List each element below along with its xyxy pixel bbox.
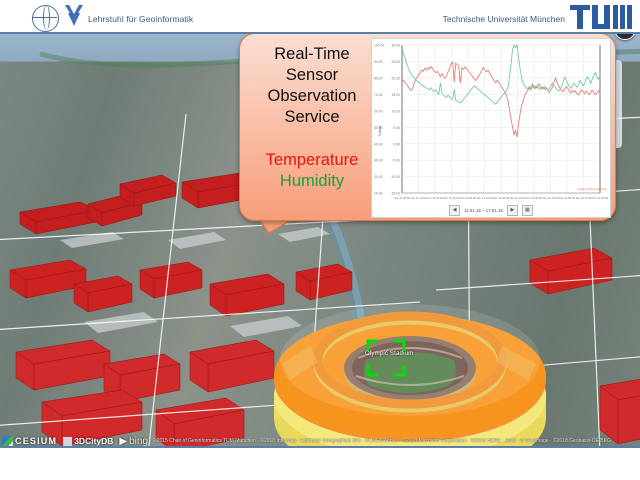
svg-text:Jan 16 00:00: Jan 16 00:00 <box>559 196 576 200</box>
svg-text:100.00: 100.00 <box>374 44 384 48</box>
svg-text:Jan 17 00:00: Jan 17 00:00 <box>592 196 609 200</box>
bing-label[interactable]: bing <box>129 436 148 447</box>
page-header: Lehrstuhl für Geoinformatik Technische U… <box>0 0 640 34</box>
svg-text:10.00: 10.00 <box>392 109 401 113</box>
institute-label: Lehrstuhl für Geoinformatik <box>88 14 193 24</box>
svg-text:90.00: 90.00 <box>374 60 383 64</box>
citydb-label[interactable]: 3DCityDB <box>74 436 113 446</box>
citydb-mark-icon <box>63 437 72 446</box>
cesium-label: CESIUM <box>15 436 57 446</box>
bing-mark-icon: ▶ <box>119 436 127 447</box>
chart-range-label: 11.01.16 – 17.01.16 <box>464 208 503 213</box>
svg-text:25.00: 25.00 <box>392 60 401 64</box>
svg-text:-10.00: -10.00 <box>390 175 400 179</box>
cesium-mark-icon <box>2 436 13 447</box>
svg-text:Jan 13 12:00: Jan 13 12:00 <box>476 196 493 200</box>
callout-title-line-2: Sensor <box>252 65 372 86</box>
feature-label: Olympic Stadium <box>365 351 413 357</box>
callout-title-block: Real-Time Sensor Observation Service Tem… <box>252 44 372 192</box>
svg-text:15.00: 15.00 <box>392 93 401 97</box>
svg-text:70.00: 70.00 <box>374 93 383 97</box>
footer-divider <box>0 446 640 448</box>
svg-text:10.00: 10.00 <box>374 192 383 196</box>
svg-text:20.00: 20.00 <box>392 76 401 80</box>
svg-text:-15.00: -15.00 <box>390 192 400 196</box>
page-footer <box>0 446 640 480</box>
chevron-logo-icon <box>64 4 84 28</box>
svg-text:Jan 12 00:00: Jan 12 00:00 <box>427 196 444 200</box>
svg-text:Jan 11 00:00: Jan 11 00:00 <box>394 196 410 200</box>
step-back-icon[interactable]: ◀ <box>449 205 460 216</box>
legend-temperature-label: Temperature <box>252 150 372 171</box>
cesium-3d-viewer-app: Lehrstuhl für Geoinformatik Technische U… <box>0 0 640 480</box>
svg-text:80.00: 80.00 <box>374 76 383 80</box>
chart-disclaimer-note: Data without warranty <box>578 187 607 191</box>
callout-title-line-3: Observation <box>252 86 372 107</box>
sensor-chart-panel[interactable]: 30.00100.0025.0090.0020.0080.0015.0070.0… <box>371 38 611 218</box>
calendar-icon[interactable]: ▦ <box>522 205 533 216</box>
svg-text:0.00: 0.00 <box>393 142 400 146</box>
sensor-info-callout: Real-Time Sensor Observation Service Tem… <box>239 33 616 221</box>
university-label: Technische Universität München <box>443 14 565 24</box>
svg-text:5.00: 5.00 <box>393 126 400 130</box>
svg-text:Jan 11 12:00: Jan 11 12:00 <box>411 196 427 200</box>
attribution-bar: CESIUM 3DCityDB ▶ bing ©2015 Chair of Ge… <box>0 434 640 446</box>
svg-text:Jan 12 12:00: Jan 12 12:00 <box>443 196 460 200</box>
attribution-credits: ©2015 Chair of Geoinformatics TUM Münche… <box>153 438 611 444</box>
svg-text:40.00: 40.00 <box>374 142 383 146</box>
olympic-stadium-model[interactable] <box>270 268 550 446</box>
header-divider <box>0 32 640 34</box>
callout-title-line-4: Service <box>252 107 372 128</box>
svg-text:Jan 15 00:00: Jan 15 00:00 <box>526 196 543 200</box>
chart-playback-toolbar[interactable]: ◀ 11.01.16 – 17.01.16 ▶ ▦ <box>372 204 610 216</box>
svg-text:Jan 14 00:00: Jan 14 00:00 <box>493 196 510 200</box>
sensor-timeseries-chart[interactable]: 30.00100.0025.0090.0020.0080.0015.0070.0… <box>372 39 610 217</box>
globe-icon <box>32 5 59 32</box>
svg-text:Jan 14 12:00: Jan 14 12:00 <box>509 196 526 200</box>
svg-text:60.00: 60.00 <box>374 109 383 113</box>
svg-text:30.00: 30.00 <box>392 44 401 48</box>
svg-text:30.00: 30.00 <box>374 159 383 163</box>
legend-humidity-label: Humidity <box>252 171 372 192</box>
svg-text:Jan 16 12:00: Jan 16 12:00 <box>575 196 592 200</box>
svg-text:-5.00: -5.00 <box>392 159 400 163</box>
selection-bracket-icon <box>366 339 406 377</box>
svg-text:Jan 15 12:00: Jan 15 12:00 <box>542 196 559 200</box>
callout-title-line-1: Real-Time <box>252 44 372 65</box>
svg-text:Jan 13 00:00: Jan 13 00:00 <box>460 196 477 200</box>
svg-text:Celsius: Celsius <box>378 125 382 136</box>
step-forward-icon[interactable]: ▶ <box>507 205 518 216</box>
svg-text:20.00: 20.00 <box>374 175 383 179</box>
tum-logo-icon <box>570 5 632 29</box>
cesium-logo[interactable]: CESIUM <box>2 436 57 447</box>
